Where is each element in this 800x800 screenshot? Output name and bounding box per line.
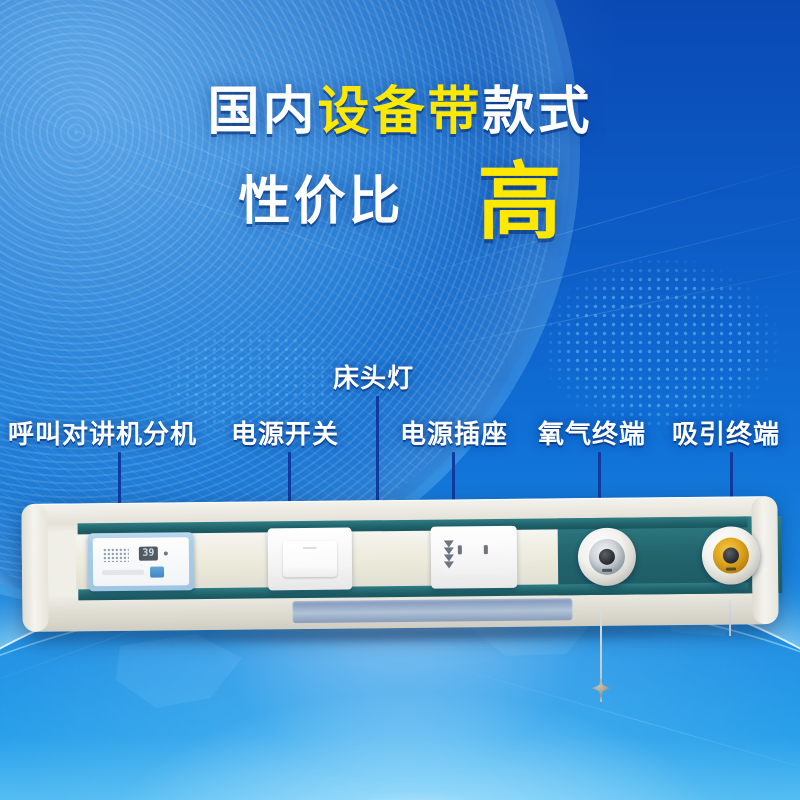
switch-rocker[interactable] xyxy=(283,541,337,578)
socket-pin-icon xyxy=(484,545,488,554)
callout-label-intercom: 呼叫对讲机分机 xyxy=(8,414,197,451)
headline-emphasis-word: 高 xyxy=(478,160,562,244)
intercom-slot xyxy=(102,570,144,575)
oxygen-terminal[interactable] xyxy=(578,528,637,587)
medical-bed-head-panel: 39 xyxy=(21,496,778,632)
callout-label-bed-lamp: 床头灯 xyxy=(333,358,414,395)
headline-block: 国内设备带款式 性价比高 xyxy=(0,86,800,244)
power-switch[interactable] xyxy=(268,528,353,591)
headline-part-2-accent: 设备带 xyxy=(317,83,482,141)
suction-terminal-marking xyxy=(726,567,736,570)
headline-subtitle: 性价比 xyxy=(238,176,403,228)
socket-pin-icon xyxy=(458,545,462,554)
suction-terminal-port-icon xyxy=(723,547,739,563)
suction-terminal[interactable] xyxy=(702,526,761,585)
headline-part-3: 款式 xyxy=(483,83,593,141)
callout-label-power-socket: 电源插座 xyxy=(400,414,508,451)
intercom-faceplate: 39 xyxy=(93,537,189,586)
callout-label-oxygen-terminal: 氧气终端 xyxy=(538,414,646,451)
socket-pin-icon xyxy=(444,561,454,568)
headline-line-2: 性价比高 xyxy=(0,160,800,244)
callout-label-suction-terminal: 吸引终端 xyxy=(672,414,780,451)
headline-line-1: 国内设备带款式 xyxy=(0,86,800,138)
headline-part-1: 国内 xyxy=(207,83,317,141)
oxygen-terminal-inner xyxy=(589,539,625,575)
panel-rail-gloss xyxy=(292,598,572,623)
callout-label-power-switch: 电源开关 xyxy=(231,414,339,451)
intercom-display: 39 xyxy=(139,547,158,561)
suction-hanging-cord xyxy=(729,600,731,636)
suction-terminal-inner xyxy=(713,537,749,573)
intercom-call-button[interactable] xyxy=(150,566,164,577)
nurse-call-intercom-unit[interactable]: 39 xyxy=(88,532,195,591)
oxygen-terminal-marking xyxy=(602,569,612,572)
panel-end-cap-left xyxy=(21,504,48,632)
oxygen-terminal-port-icon xyxy=(599,549,615,565)
power-socket[interactable] xyxy=(431,526,518,589)
speaker-grille-icon xyxy=(103,548,129,562)
switch-mark-icon xyxy=(303,547,317,549)
promo-banner: 国内设备带款式 性价比高 呼叫对讲机分机 电源开关 床头灯 电源插座 氧气终端 … xyxy=(0,0,800,800)
socket-faceplate xyxy=(444,540,504,575)
status-led-icon xyxy=(164,551,168,555)
